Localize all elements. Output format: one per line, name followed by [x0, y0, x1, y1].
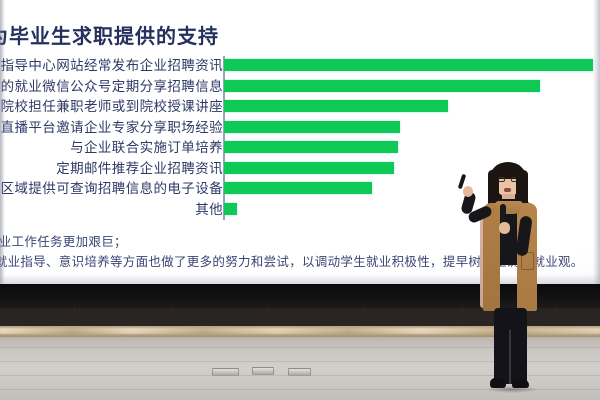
floor-socket-plate	[252, 367, 274, 375]
bar-label: 其他	[195, 200, 223, 221]
bar-fill	[224, 59, 593, 71]
bar-row: 与企业联合实施订单培养	[0, 138, 600, 159]
bar-fill	[224, 100, 448, 112]
bar-fill	[224, 182, 372, 194]
bar-fill	[224, 162, 394, 174]
mic-hand	[499, 222, 510, 234]
bar-fill	[224, 80, 540, 92]
bar-label: 专门的就业微信公众号定期分享招聘信息	[0, 77, 223, 98]
right-shoe	[512, 379, 529, 388]
bar-row: 请企业到院校担任兼职老师或到院校授课讲座	[0, 97, 600, 118]
bar-fill	[224, 203, 237, 215]
presenter-figure	[455, 160, 565, 400]
bar-label: 就业指导中心网站经常发布企业招聘资讯	[0, 56, 223, 77]
bar-fill	[224, 121, 400, 133]
slide-title: 为毕业生求职提供的支持	[0, 20, 219, 49]
bar-label: 搭建直播平台邀请企业专家分享职场经验	[0, 118, 223, 139]
floor-socket-plate	[212, 368, 239, 376]
left-shoe	[490, 378, 506, 388]
bar-label: 在固定区域提供可查询招聘信息的电子设备	[0, 179, 223, 200]
leg-separation	[509, 330, 511, 384]
bar-row: 搭建直播平台邀请企业专家分享职场经验	[0, 118, 600, 139]
bar-fill	[224, 141, 398, 153]
raised-hand	[463, 186, 473, 197]
presentation-photo-scene: 为毕业生求职提供的支持 就业指导中心网站经常发布企业招聘资讯 专门的就业微信公众…	[0, 0, 600, 400]
bar-row: 专门的就业微信公众号定期分享招聘信息	[0, 77, 600, 98]
bar-label: 请企业到院校担任兼职老师或到院校授课讲座	[0, 97, 223, 118]
mouth	[504, 188, 511, 192]
bar-label: 与企业联合实施订单培养	[70, 138, 223, 159]
bar-row: 就业指导中心网站经常发布企业招聘资讯	[0, 56, 600, 77]
bar-label: 定期邮件推荐企业招聘资讯	[56, 159, 223, 180]
floor-socket-plate	[288, 368, 311, 376]
tan-vest-left-panel	[483, 203, 500, 311]
